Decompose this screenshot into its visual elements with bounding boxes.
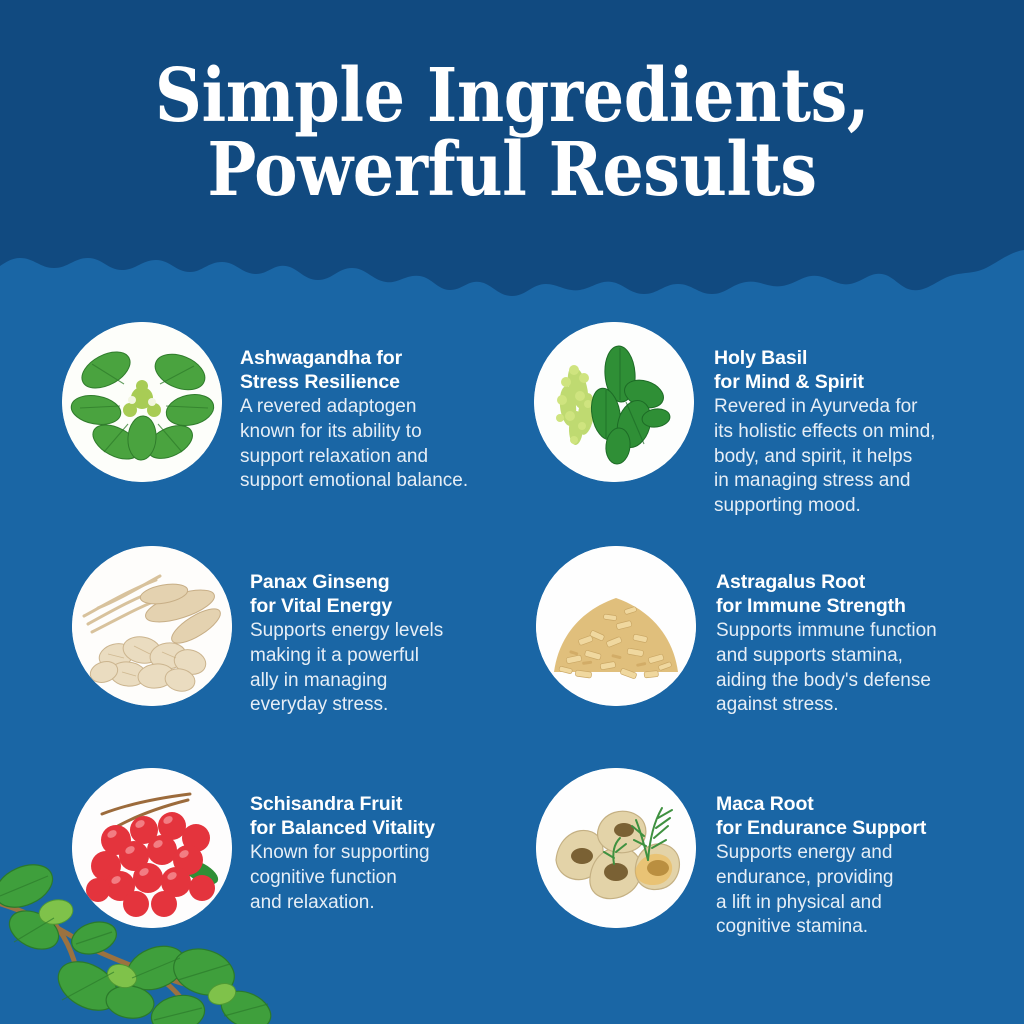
astragalus-description: Supports immune function and supports st… [716,619,937,718]
maca-root-thumbnail [536,768,696,928]
ashwagandha-leaves-icon [62,322,222,482]
holy-basil-text: Holy Basil for Mind & Spirit Revered in … [714,322,935,519]
ingredient-card-panax-ginseng: Panax Ginseng for Vital Energy Supports … [72,546,522,718]
title-line-1: Simple Ingredients, [61,62,962,130]
holy-basil-description: Revered in Ayurveda for its holistic eff… [714,395,935,518]
ashwagandha-description: A revered adaptogen known for its abilit… [240,395,468,494]
ashwagandha-text: Ashwagandha for Stress Resilience A reve… [240,322,468,494]
schisandra-text: Schisandra Fruit for Balanced Vitality K… [250,768,435,915]
maca-root-description: Supports energy and endurance, providing… [716,841,926,940]
panax-ginseng-thumbnail [72,546,232,706]
ingredients-infographic: Simple Ingredients, Powerful Results [0,0,1024,1024]
holy-basil-leaves-icon [534,322,694,482]
ashwagandha-thumbnail [62,322,222,482]
holy-basil-thumbnail [534,322,694,482]
ingredient-card-maca-root: Maca Root for Endurance Support Supports… [536,768,1006,940]
holy-basil-title: Holy Basil for Mind & Spirit [714,346,935,394]
maca-root-text: Maca Root for Endurance Support Supports… [716,768,926,940]
ingredients-grid: Ashwagandha for Stress Resilience A reve… [0,300,1024,960]
panax-ginseng-title: Panax Ginseng for Vital Energy [250,570,443,618]
schisandra-berries-icon [72,768,232,928]
ingredient-card-schisandra-fruit: Schisandra Fruit for Balanced Vitality K… [72,768,522,928]
maca-root-icon [536,768,696,928]
schisandra-title: Schisandra Fruit for Balanced Vitality [250,792,435,840]
astragalus-text: Astragalus Root for Immune Strength Supp… [716,546,937,718]
ashwagandha-title: Ashwagandha for Stress Resilience [240,346,468,394]
astragalus-title: Astragalus Root for Immune Strength [716,570,937,618]
panax-ginseng-root-icon [72,546,232,706]
ingredient-card-astragalus-root: Astragalus Root for Immune Strength Supp… [536,546,1006,718]
panax-ginseng-description: Supports energy levels making it a power… [250,619,443,718]
ingredient-card-ashwagandha: Ashwagandha for Stress Resilience A reve… [62,322,522,494]
astragalus-root-slices-icon [536,546,696,706]
astragalus-thumbnail [536,546,696,706]
maca-root-title: Maca Root for Endurance Support [716,792,926,840]
panax-ginseng-text: Panax Ginseng for Vital Energy Supports … [250,546,443,718]
schisandra-description: Known for supporting cognitive function … [250,841,435,915]
title-line-2: Powerful Results [61,136,962,204]
ingredient-card-holy-basil: Holy Basil for Mind & Spirit Revered in … [534,322,1004,519]
poster-title: Simple Ingredients, Powerful Results [0,62,1024,204]
schisandra-thumbnail [72,768,232,928]
